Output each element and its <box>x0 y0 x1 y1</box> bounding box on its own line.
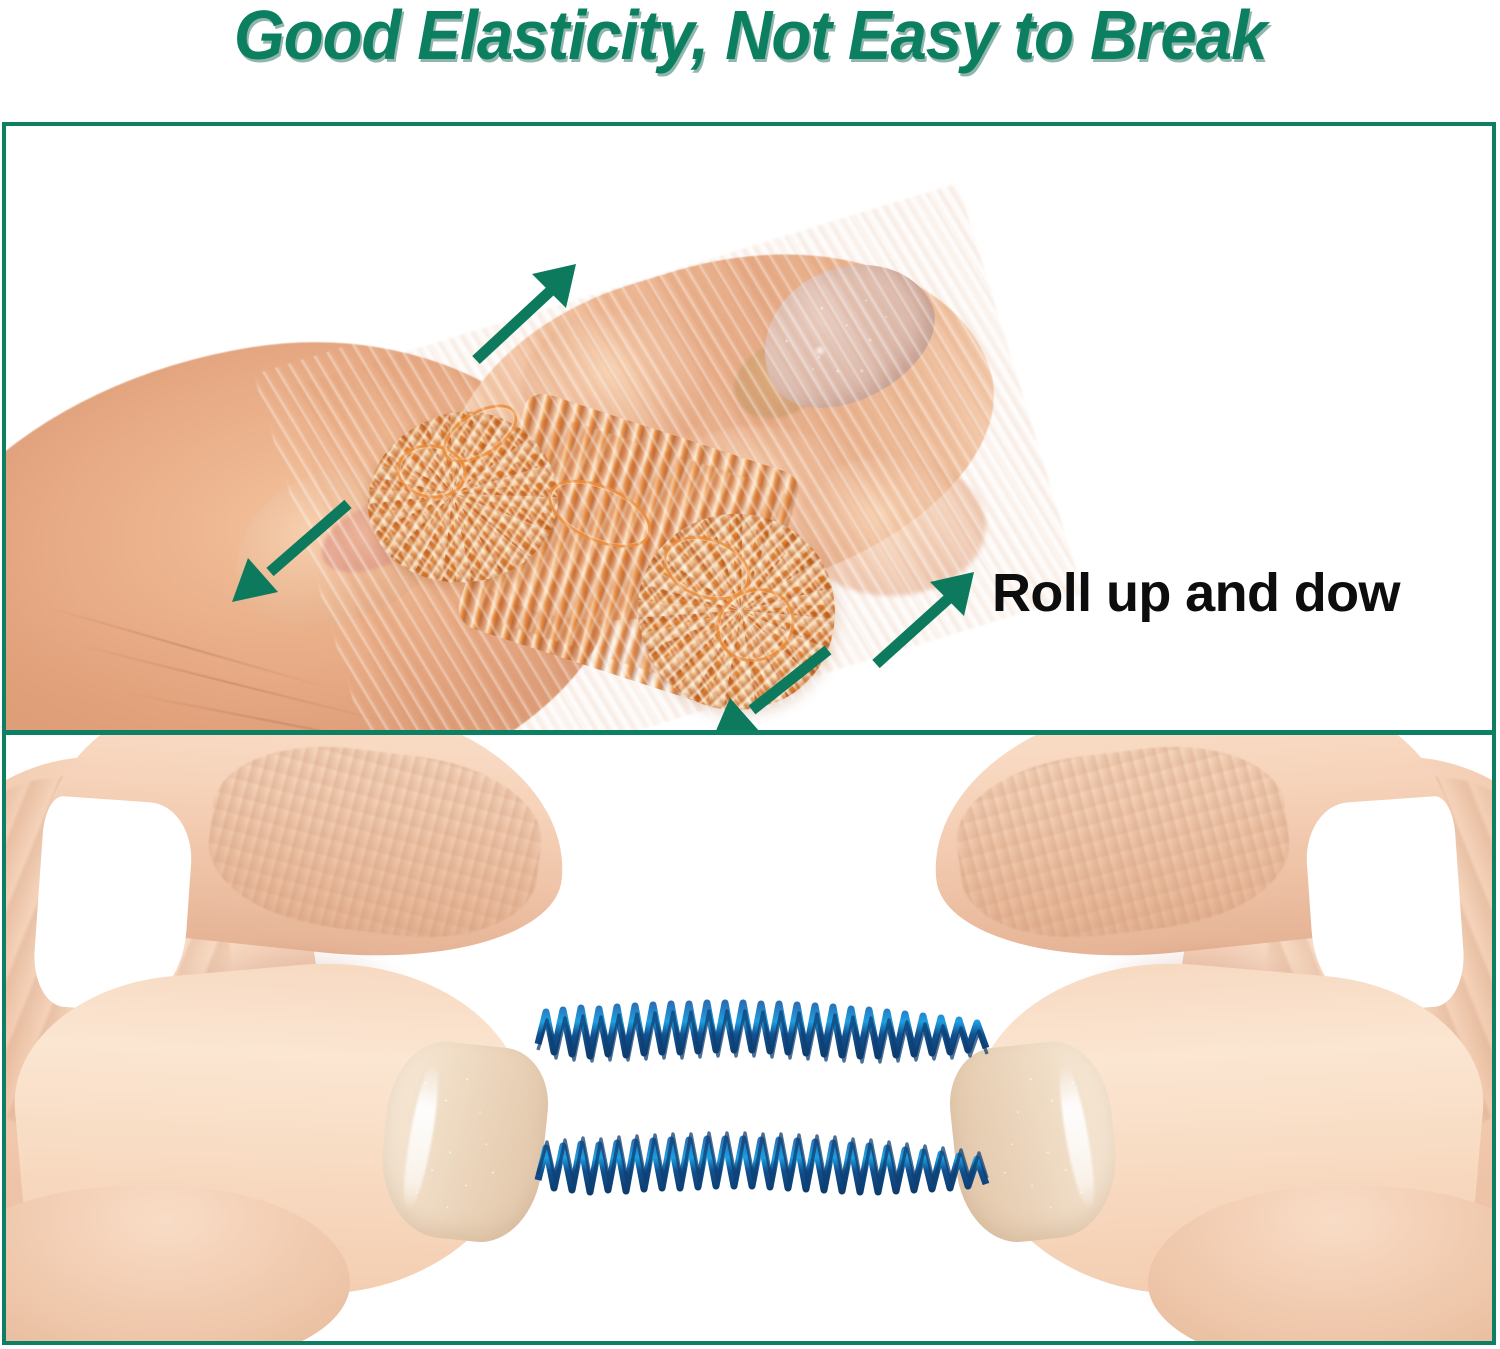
panel-divider <box>2 730 1496 735</box>
left-hand <box>6 734 620 1336</box>
product-infographic: Good Elasticity, Not Easy to Break <box>0 0 1500 1349</box>
blue-spring-photo: Durable <box>6 734 1492 1341</box>
roll-up-and-down-panel: Roll up and dow <box>2 122 1496 734</box>
blue-spring-ring <box>536 996 988 1246</box>
durable-panel: Durable <box>2 734 1496 1345</box>
arrow-down-left-bottom-icon <box>702 644 842 730</box>
nail-glitter <box>374 1036 554 1248</box>
spring-coil-lower <box>536 1128 988 1224</box>
page-title: Good Elasticity, Not Easy to Break <box>234 0 1266 71</box>
headline-banner: Good Elasticity, Not Easy to Break <box>0 0 1500 120</box>
arrow-up-right-top-icon <box>468 258 598 368</box>
arrow-down-left-left-icon <box>222 496 362 611</box>
copper-ring-photo: Roll up and dow <box>6 126 1492 730</box>
spring-coil-upper <box>536 1000 988 1096</box>
arrow-up-right-label-icon <box>868 560 1003 672</box>
roll-up-and-down-label: Roll up and dow <box>992 562 1400 624</box>
